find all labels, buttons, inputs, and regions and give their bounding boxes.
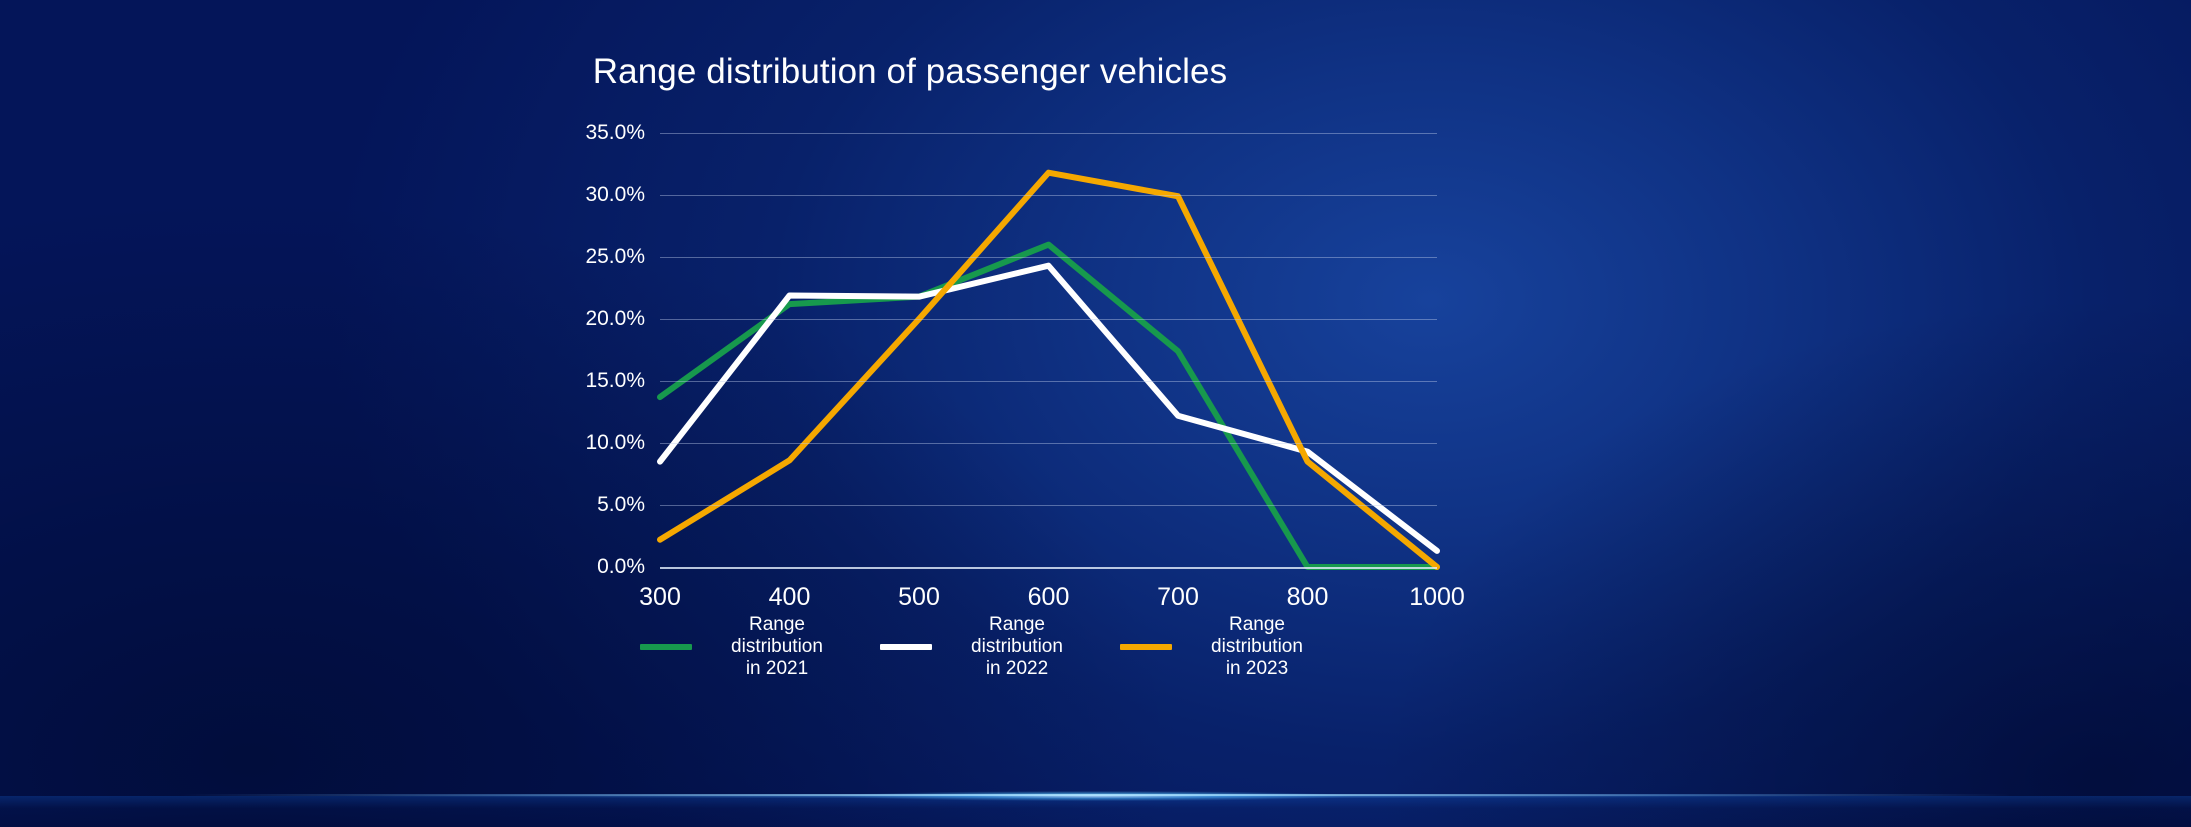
x-axis-tick-label: 300 bbox=[639, 583, 681, 612]
legend-item-label: Range distribution in 2023 bbox=[1182, 614, 1332, 680]
gridline bbox=[660, 257, 1437, 258]
chart-legend: Range distribution in 2021Range distribu… bbox=[640, 614, 1360, 680]
series-line bbox=[660, 245, 1437, 567]
legend-item[interactable]: Range distribution in 2022 bbox=[880, 614, 1120, 680]
legend-item[interactable]: Range distribution in 2023 bbox=[1120, 614, 1360, 680]
legend-item[interactable]: Range distribution in 2021 bbox=[640, 614, 880, 680]
x-axis-tick-label: 700 bbox=[1157, 583, 1199, 612]
plot-area bbox=[660, 133, 1437, 567]
x-axis-tick-label: 1000 bbox=[1409, 583, 1465, 612]
y-axis-tick-label: 0.0% bbox=[515, 555, 645, 579]
x-axis-line bbox=[660, 567, 1437, 569]
x-axis-tick-labels: 3004005006007008001000 bbox=[660, 583, 1437, 613]
y-axis-tick-label: 20.0% bbox=[515, 307, 645, 331]
x-axis-tick-label: 600 bbox=[1028, 583, 1070, 612]
chart-title: Range distribution of passenger vehicles bbox=[560, 52, 1260, 92]
gridline bbox=[660, 133, 1437, 134]
legend-color-swatch bbox=[880, 644, 932, 650]
y-axis-tick-label: 5.0% bbox=[515, 493, 645, 517]
x-axis-tick-label: 800 bbox=[1287, 583, 1329, 612]
y-axis-tick-label: 35.0% bbox=[515, 121, 645, 145]
legend-color-swatch bbox=[1120, 644, 1172, 650]
gridline bbox=[660, 381, 1437, 382]
series-line bbox=[660, 173, 1437, 567]
legend-item-label: Range distribution in 2021 bbox=[702, 614, 852, 680]
y-axis-tick-label: 10.0% bbox=[515, 431, 645, 455]
series-line bbox=[660, 266, 1437, 551]
gridline bbox=[660, 505, 1437, 506]
legend-color-swatch bbox=[640, 644, 692, 650]
y-axis-tick-label: 25.0% bbox=[515, 245, 645, 269]
legend-item-label: Range distribution in 2022 bbox=[942, 614, 1092, 680]
y-axis-tick-label: 30.0% bbox=[515, 183, 645, 207]
gridline bbox=[660, 195, 1437, 196]
y-axis-tick-labels: 0.0%5.0%10.0%15.0%20.0%25.0%30.0%35.0% bbox=[510, 133, 645, 567]
y-axis-tick-label: 15.0% bbox=[515, 369, 645, 393]
line-chart: Range distribution of passenger vehicles… bbox=[0, 0, 2191, 827]
series-lines bbox=[660, 133, 1437, 567]
gridline bbox=[660, 443, 1437, 444]
x-axis-tick-label: 400 bbox=[769, 583, 811, 612]
x-axis-tick-label: 500 bbox=[898, 583, 940, 612]
gridline bbox=[660, 319, 1437, 320]
